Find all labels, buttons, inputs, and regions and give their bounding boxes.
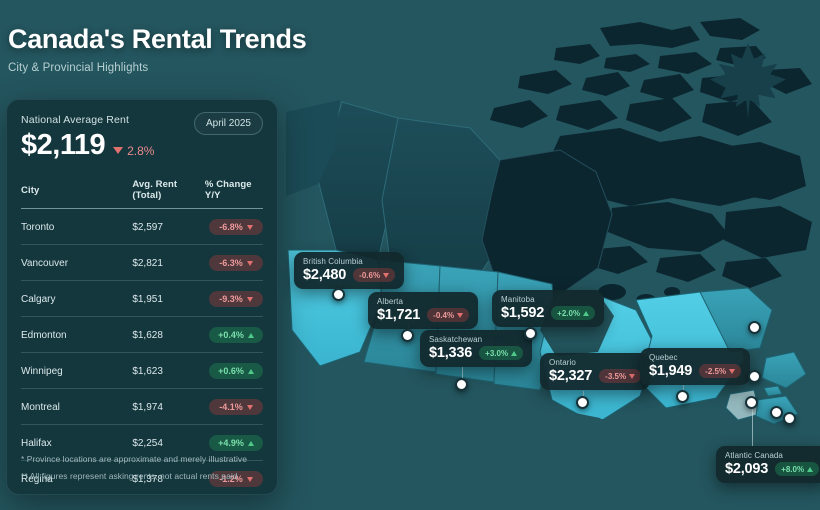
tooltip-rent-value: $1,592	[501, 305, 544, 321]
page-subtitle: City & Provincial Highlights	[8, 62, 306, 74]
triangle-up-icon	[583, 311, 589, 316]
tooltip-rent-value: $2,093	[725, 461, 768, 477]
tooltip-region-name: British Columbia	[303, 257, 395, 266]
status-badge: +0.4%	[209, 327, 263, 343]
maple-leaf-icon	[700, 38, 796, 124]
tooltip-rent-value: $2,480	[303, 267, 346, 283]
triangle-up-icon	[248, 441, 254, 446]
rent-table-head: City Avg. Rent (Total) % Change Y/Y	[21, 179, 263, 209]
table-header-row: City Avg. Rent (Total) % Change Y/Y	[21, 179, 263, 209]
map-tooltip[interactable]: Manitoba$1,592+2.0%	[492, 290, 604, 327]
cell-rent: $2,597	[132, 209, 205, 245]
change-value: +8.0%	[781, 465, 804, 474]
triangle-down-icon	[247, 225, 253, 230]
column-header-rent: Avg. Rent (Total)	[132, 179, 205, 209]
status-badge: +0.6%	[209, 363, 263, 379]
triangle-down-icon	[247, 477, 253, 482]
table-row[interactable]: Winnipeg$1,623+0.6%	[21, 353, 263, 389]
cell-rent: $1,628	[132, 317, 205, 353]
map-marker-dot[interactable]	[783, 412, 796, 425]
change-value: -6.8%	[219, 222, 243, 232]
table-row[interactable]: Montreal$1,974-4.1%	[21, 389, 263, 425]
change-value: -2.5%	[705, 367, 726, 376]
national-value-row: $2,119 2.8%	[21, 129, 154, 162]
status-badge: +8.0%	[775, 462, 819, 476]
cell-city: Calgary	[21, 281, 132, 317]
map-marker-dot[interactable]	[676, 390, 689, 403]
change-value: +3.0%	[485, 349, 508, 358]
tooltip-rent-value: $2,327	[549, 368, 592, 384]
tooltip-value-row: $2,093+8.0%	[725, 461, 819, 477]
national-change-value: 2.8%	[127, 144, 154, 158]
tooltip-region-name: Quebec	[649, 353, 741, 362]
map-marker-dot[interactable]	[455, 378, 468, 391]
status-badge: -6.8%	[209, 219, 263, 235]
map-marker-dot[interactable]	[745, 396, 758, 409]
footnotes: * Province locations are approximate and…	[21, 447, 247, 481]
tooltip-value-row: $1,592+2.0%	[501, 305, 595, 321]
cell-change: -4.1%	[205, 389, 263, 425]
footnote: * Province locations are approximate and…	[21, 454, 247, 464]
map-tooltip[interactable]: Saskatchewan$1,336+3.0%	[420, 330, 532, 367]
tooltip-region-name: Manitoba	[501, 295, 595, 304]
column-header-change: % Change Y/Y	[205, 179, 263, 209]
cell-city: Montreal	[21, 389, 132, 425]
tooltip-rent-value: $1,949	[649, 363, 692, 379]
change-value: +2.0%	[557, 309, 580, 318]
cell-city: Toronto	[21, 209, 132, 245]
cell-change: -9.3%	[205, 281, 263, 317]
triangle-down-icon	[729, 369, 735, 374]
triangle-down-icon	[247, 297, 253, 302]
footnote: ** All figures represent asking rents, n…	[21, 471, 247, 481]
triangle-down-icon	[383, 273, 389, 278]
cell-change: +0.4%	[205, 317, 263, 353]
triangle-down-icon	[113, 147, 123, 154]
map-tooltip[interactable]: Atlantic Canada$2,093+8.0%	[716, 446, 820, 483]
cell-city: Edmonton	[21, 317, 132, 353]
change-value: -0.6%	[359, 271, 380, 280]
map-marker-dot[interactable]	[748, 321, 761, 334]
table-row[interactable]: Toronto$2,597-6.8%	[21, 209, 263, 245]
map-tooltip[interactable]: British Columbia$2,480-0.6%	[294, 252, 404, 289]
date-range-pill[interactable]: April 2025	[194, 112, 263, 135]
column-header-city: City	[21, 179, 132, 209]
table-row[interactable]: Vancouver$2,821-6.3%	[21, 245, 263, 281]
change-value: -3.5%	[605, 372, 626, 381]
tooltip-value-row: $1,949-2.5%	[649, 363, 741, 379]
leader-line	[752, 404, 753, 446]
cell-change: -6.8%	[205, 209, 263, 245]
national-average-label: National Average Rent	[21, 114, 154, 126]
stats-panel: National Average Rent $2,119 2.8% April …	[6, 99, 278, 495]
panel-top-row: National Average Rent $2,119 2.8% April …	[21, 114, 263, 162]
map-marker-dot[interactable]	[576, 396, 589, 409]
tooltip-value-row: $1,721-0.4%	[377, 307, 469, 323]
change-value: -6.3%	[219, 258, 243, 268]
status-badge: -0.6%	[353, 268, 395, 282]
status-badge: -4.1%	[209, 399, 263, 415]
tooltip-region-name: Atlantic Canada	[725, 451, 819, 460]
cell-rent: $2,821	[132, 245, 205, 281]
tooltip-value-row: $2,327-3.5%	[549, 368, 641, 384]
map-marker-dot[interactable]	[524, 327, 537, 340]
change-value: +0.4%	[218, 330, 244, 340]
triangle-down-icon	[457, 313, 463, 318]
cell-rent: $1,974	[132, 389, 205, 425]
tooltip-region-name: Ontario	[549, 358, 641, 367]
tooltip-value-row: $2,480-0.6%	[303, 267, 395, 283]
map-tooltip[interactable]: Ontario$2,327-3.5%	[540, 353, 650, 390]
table-row[interactable]: Edmonton$1,628+0.4%	[21, 317, 263, 353]
map-marker-dot[interactable]	[332, 288, 345, 301]
status-badge: -0.4%	[427, 308, 469, 322]
triangle-up-icon	[248, 333, 254, 338]
triangle-down-icon	[247, 405, 253, 410]
national-block: National Average Rent $2,119 2.8%	[21, 114, 154, 162]
province-pei	[764, 386, 782, 396]
tooltip-region-name: Alberta	[377, 297, 469, 306]
status-badge: -9.3%	[209, 291, 263, 307]
change-value: -0.4%	[433, 311, 454, 320]
change-value: -9.3%	[219, 294, 243, 304]
map-tooltip[interactable]: Alberta$1,721-0.4%	[368, 292, 478, 329]
map-marker-dot[interactable]	[770, 406, 783, 419]
map-marker-dot[interactable]	[748, 370, 761, 383]
cell-change: +0.6%	[205, 353, 263, 389]
status-badge: -6.3%	[209, 255, 263, 271]
status-badge: +3.0%	[479, 346, 523, 360]
change-value: -4.1%	[219, 402, 243, 412]
triangle-down-icon	[629, 374, 635, 379]
cell-rent: $1,623	[132, 353, 205, 389]
page-header: Canada's Rental Trends City & Provincial…	[0, 0, 306, 74]
triangle-up-icon	[807, 467, 813, 472]
cell-change: -6.3%	[205, 245, 263, 281]
triangle-up-icon	[511, 351, 517, 356]
page-title: Canada's Rental Trends	[8, 24, 306, 55]
tooltip-rent-value: $1,336	[429, 345, 472, 361]
map-tooltip[interactable]: Quebec$1,949-2.5%	[640, 348, 750, 385]
tooltip-region-name: Saskatchewan	[429, 335, 523, 344]
status-badge: +2.0%	[551, 306, 595, 320]
cell-city: Winnipeg	[21, 353, 132, 389]
map-marker-dot[interactable]	[401, 329, 414, 342]
status-badge: -2.5%	[699, 364, 741, 378]
national-average-value: $2,119	[21, 129, 105, 162]
tooltip-value-row: $1,336+3.0%	[429, 345, 523, 361]
province-newfoundland	[762, 352, 806, 388]
triangle-up-icon	[248, 369, 254, 374]
change-value: +0.6%	[218, 366, 244, 376]
dashboard-root: British Columbia$2,480-0.6%Alberta$1,721…	[0, 0, 820, 510]
triangle-down-icon	[247, 261, 253, 266]
table-row[interactable]: Calgary$1,951-9.3%	[21, 281, 263, 317]
cell-rent: $1,951	[132, 281, 205, 317]
status-badge: -3.5%	[599, 369, 641, 383]
tooltip-rent-value: $1,721	[377, 307, 420, 323]
cell-city: Vancouver	[21, 245, 132, 281]
national-change-indicator: 2.8%	[113, 144, 154, 158]
